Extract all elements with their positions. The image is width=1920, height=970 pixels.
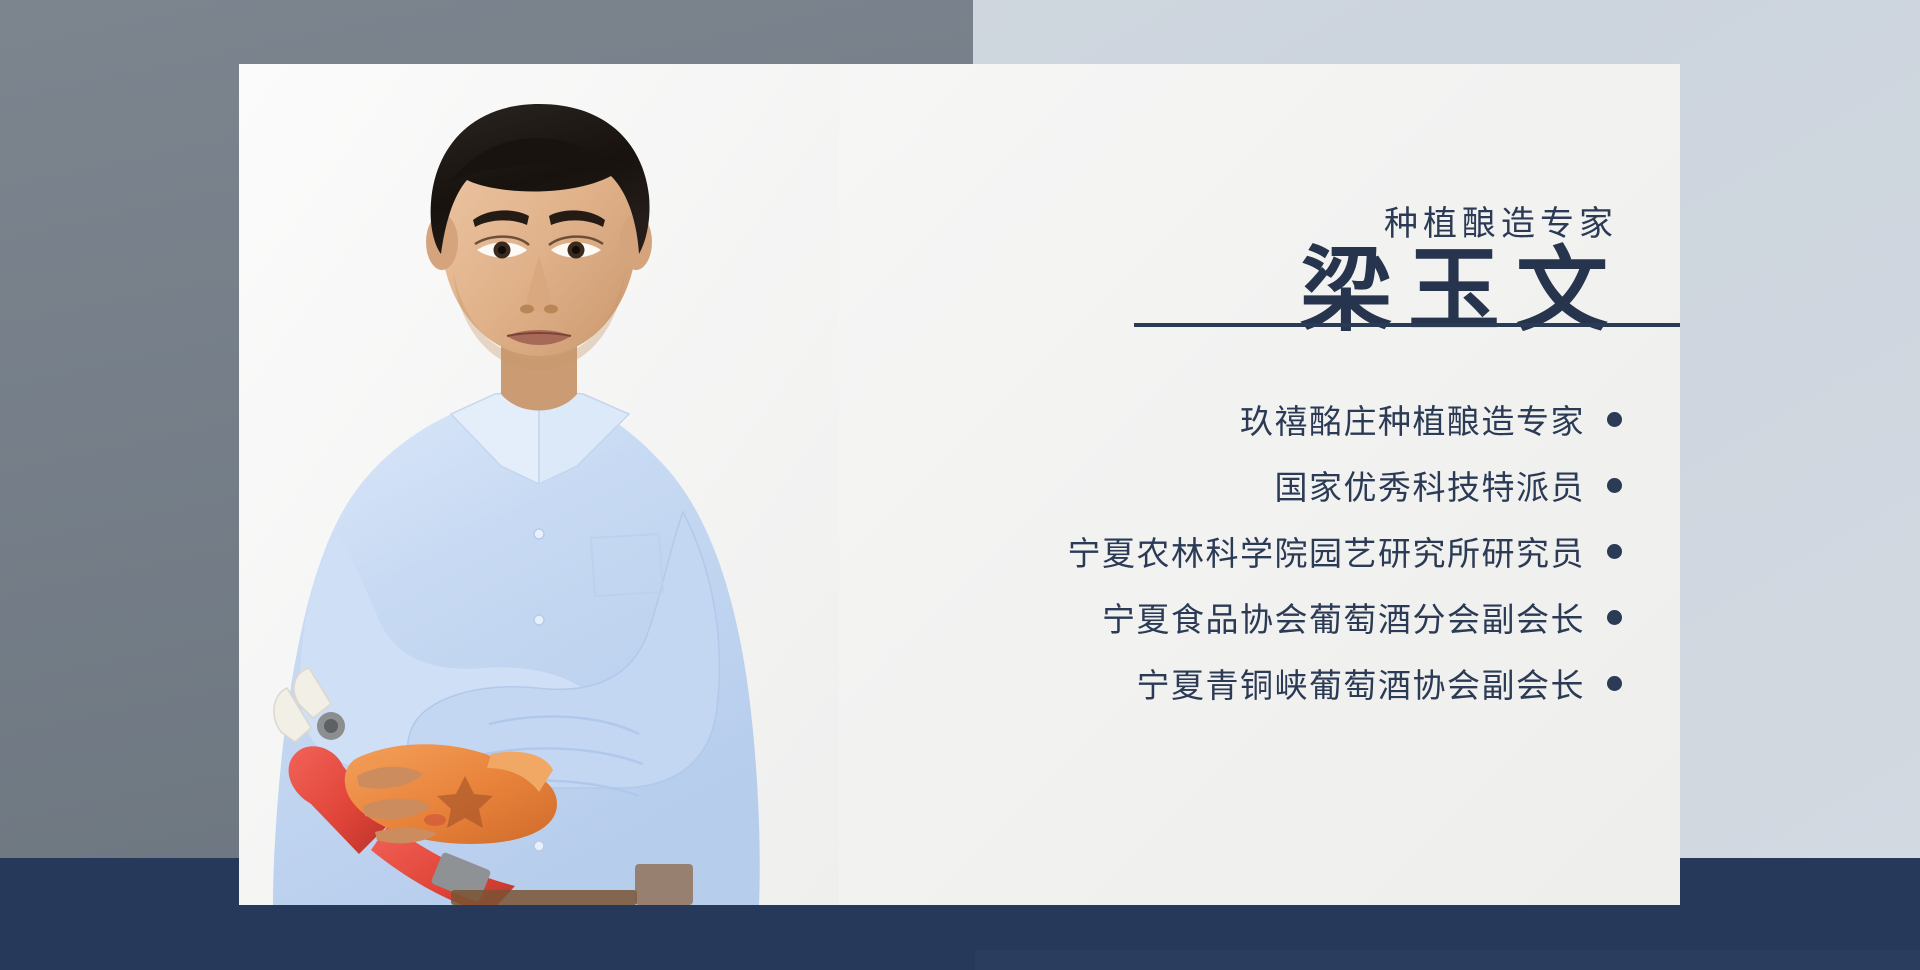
divider	[1134, 318, 1680, 332]
divider-line	[1134, 323, 1680, 327]
filled-circle-bullet-icon	[1607, 610, 1622, 625]
filled-circle-bullet-icon	[1607, 676, 1622, 691]
credential-text: 宁夏食品协会葡萄酒分会副会长	[1102, 593, 1585, 641]
credential-text: 国家优秀科技特派员	[1275, 461, 1586, 509]
credential-text: 宁夏青铜峡葡萄酒协会副会长	[1137, 659, 1586, 707]
background-navy-accent-strip	[975, 950, 1920, 970]
expert-role-eyebrow: 种植酿造专家	[1384, 196, 1618, 245]
expert-info-panel: 种植酿造专家 梁玉文 玖禧酩庄种植酿造专家 国家优秀科技特派员 宁夏农林科学院园…	[839, 64, 1680, 905]
list-item: 宁夏青铜峡葡萄酒协会副会长	[1068, 650, 1623, 716]
filled-circle-bullet-icon	[1607, 412, 1622, 427]
list-item: 国家优秀科技特派员	[1068, 452, 1623, 518]
credentials-list: 玖禧酩庄种植酿造专家 国家优秀科技特派员 宁夏农林科学院园艺研究所研究员 宁夏食…	[1068, 386, 1623, 716]
list-item: 玖禧酩庄种植酿造专家	[1068, 386, 1623, 452]
list-item: 宁夏农林科学院园艺研究所研究员	[1068, 518, 1623, 584]
filled-circle-bullet-icon	[1607, 544, 1622, 559]
credential-text: 玖禧酩庄种植酿造专家	[1240, 395, 1585, 443]
profile-card: 种植酿造专家 梁玉文 玖禧酩庄种植酿造专家 国家优秀科技特派员 宁夏农林科学院园…	[239, 64, 1680, 905]
credential-text: 宁夏农林科学院园艺研究所研究员	[1068, 527, 1586, 575]
filled-circle-bullet-icon	[1607, 478, 1622, 493]
list-item: 宁夏食品协会葡萄酒分会副会长	[1068, 584, 1623, 650]
poster-canvas: 种植酿造专家 梁玉文 玖禧酩庄种植酿造专家 国家优秀科技特派员 宁夏农林科学院园…	[0, 0, 1920, 970]
portrait-photo	[239, 64, 839, 905]
